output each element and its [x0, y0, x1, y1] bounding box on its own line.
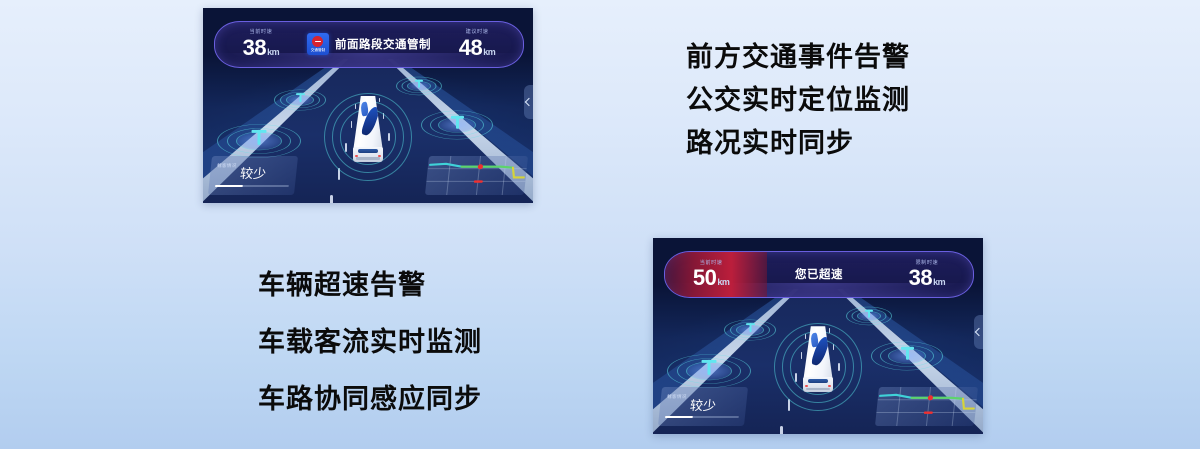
hud-top-bar: 当前时速 38km 交通管制 前面路段交通管制 建议时速 48km	[214, 21, 524, 68]
feature-list-right: 前方交通事件告警 公交实时定位监测 路况实时同步	[686, 44, 910, 173]
antenna-post	[749, 323, 751, 332]
occupancy-track	[664, 416, 738, 418]
antenna-post	[418, 80, 420, 88]
gauge-caption: 建议时速	[466, 30, 489, 35]
gauge-unit: km	[717, 277, 729, 287]
minimap-marker	[924, 411, 933, 413]
speed-limit-gauge: 限制时速 38km	[881, 252, 973, 297]
feature-line: 前方交通事件告警	[686, 44, 910, 71]
gauge-value: 48km	[459, 38, 496, 58]
bus-rear-face	[353, 147, 383, 162]
occupancy-widget: 载客情况 较少	[208, 156, 298, 195]
bus-taillight	[805, 385, 808, 387]
feature-line: 公交实时定位监测	[686, 87, 910, 114]
antenna-post	[906, 346, 909, 359]
bus-bumper	[356, 157, 380, 160]
antenna-post	[456, 116, 459, 129]
gauge-unit: km	[267, 47, 279, 57]
roadside-antenna-icon	[295, 93, 306, 104]
bus-livery-accent	[810, 332, 819, 347]
bus-bumper	[806, 388, 830, 391]
occupancy-value: 较少	[215, 168, 290, 182]
gauge-caption: 限制时速	[915, 261, 938, 266]
no-entry-icon: 交通管制	[307, 33, 329, 55]
panel-collapse-handle[interactable]	[974, 315, 983, 349]
overspeed-hud-panel: 当前时速 50km 您已超速 限制时速 38km 载客情况 较少	[653, 238, 983, 434]
sign-label: 交通管制	[311, 49, 325, 53]
hud-top-bar: 当前时速 50km 您已超速 限制时速 38km	[664, 251, 974, 298]
feature-line: 路况实时同步	[686, 130, 910, 157]
feature-line: 车路协同感应同步	[258, 386, 482, 413]
roadside-antenna	[725, 305, 775, 355]
bus-taillight	[378, 155, 381, 157]
minimap-marker	[474, 181, 483, 183]
occupancy-fill	[214, 185, 242, 187]
suggested-speed-gauge: 建议时速 48km	[431, 22, 523, 67]
roadside-antenna-icon	[250, 129, 268, 147]
roadside-antenna-icon	[745, 323, 756, 334]
chevron-left-icon	[975, 328, 983, 336]
roadside-antenna-icon	[864, 310, 874, 320]
no-entry-symbol	[312, 36, 323, 47]
gauge-caption: 当前时速	[700, 261, 723, 266]
lane-dash	[330, 195, 333, 203]
minimap-svg	[875, 387, 978, 426]
gauge-value: 38km	[243, 38, 280, 58]
roadside-antenna-icon	[450, 116, 465, 131]
route-minimap[interactable]	[425, 156, 528, 195]
roadside-antenna	[422, 90, 492, 160]
bus-taillight	[828, 385, 831, 387]
antenna-post	[868, 310, 870, 318]
roadside-antenna-icon	[700, 360, 718, 378]
roadside-antenna	[872, 321, 942, 391]
hud-message: 前面路段交通管制	[335, 36, 431, 52]
antenna-post	[708, 360, 711, 375]
roadside-antenna-icon	[414, 80, 424, 90]
occupancy-widget: 载客情况 较少	[658, 387, 748, 426]
bus-vehicle	[795, 326, 841, 392]
minimap-svg	[425, 156, 528, 195]
antenna-post	[258, 129, 261, 144]
bus-vehicle	[345, 96, 391, 162]
feature-line: 车载客流实时监测	[258, 329, 482, 356]
gauge-caption: 当前时速	[250, 30, 273, 35]
bus-taillight	[355, 155, 358, 157]
feature-line: 车辆超速告警	[258, 272, 482, 299]
gauge-value: 38km	[909, 268, 946, 288]
roadside-antenna-icon	[900, 346, 915, 361]
panel-collapse-handle[interactable]	[524, 85, 533, 119]
hud-message: 您已超速	[795, 266, 843, 282]
route-minimap[interactable]	[875, 387, 978, 426]
current-speed-gauge: 当前时速 38km	[215, 22, 307, 67]
roadside-antenna	[275, 75, 325, 125]
feature-list-left: 车辆超速告警 车载客流实时监测 车路协同感应同步	[258, 272, 482, 443]
gauge-value: 50km	[693, 268, 730, 288]
occupancy-track	[214, 185, 288, 187]
hud-message-area: 交通管制 前面路段交通管制	[307, 22, 431, 67]
gauge-unit: km	[483, 47, 495, 57]
antenna-post	[299, 93, 301, 102]
bus-rear-window	[358, 149, 378, 153]
chevron-left-icon	[525, 97, 533, 105]
gauge-unit: km	[933, 277, 945, 287]
lane-dash	[780, 426, 783, 434]
occupancy-value: 较少	[665, 399, 740, 413]
hud-message-area: 您已超速	[757, 252, 880, 297]
current-speed-gauge: 当前时速 50km	[665, 252, 757, 297]
bus-rear-face	[803, 377, 833, 392]
occupancy-fill	[664, 416, 692, 418]
bus-rear-window	[808, 379, 828, 383]
traffic-control-hud-panel: 当前时速 38km 交通管制 前面路段交通管制 建议时速 48km 载客情况 较…	[203, 8, 533, 203]
